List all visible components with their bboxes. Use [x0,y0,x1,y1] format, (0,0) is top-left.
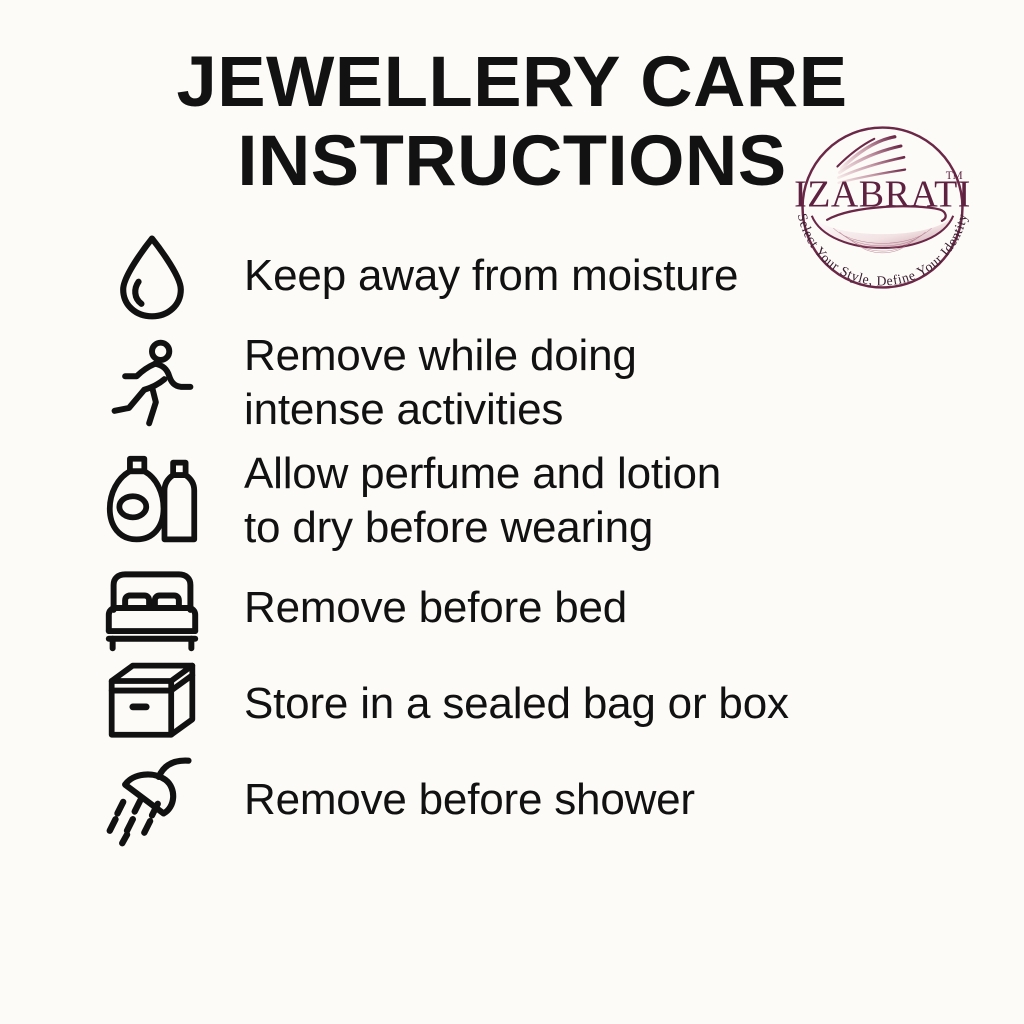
logo-brand-name: IZABRATI [794,173,971,215]
list-item-label: Keep away from moisture [244,249,738,303]
list-item-label: Remove while doing intense activities [244,329,637,437]
list-item: Remove before shower [0,752,1024,848]
list-item: Store in a sealed bag or box [0,656,1024,752]
list-item: Allow perfume and lotion to dry before w… [0,442,1024,560]
list-item-label: Remove before bed [244,581,627,635]
shower-head-icon [104,752,222,848]
bed-icon [104,560,222,656]
list-item: Remove while doing intense activities [0,324,1024,442]
list-item: Remove before bed [0,560,1024,656]
list-item-label: Store in a sealed bag or box [244,677,789,731]
perfume-lotion-bottles-icon [104,453,222,549]
water-droplet-icon [104,228,222,324]
list-item: Keep away from moisture [0,228,1024,324]
list-item-label: Allow perfume and lotion to dry before w… [244,447,721,555]
running-person-icon [104,335,222,431]
list-item-label: Remove before shower [244,773,695,827]
logo-trademark-icon: TM [946,170,963,182]
instructions-list: Keep away from moisture Remove while doi… [0,228,1024,848]
storage-box-icon [104,656,222,752]
